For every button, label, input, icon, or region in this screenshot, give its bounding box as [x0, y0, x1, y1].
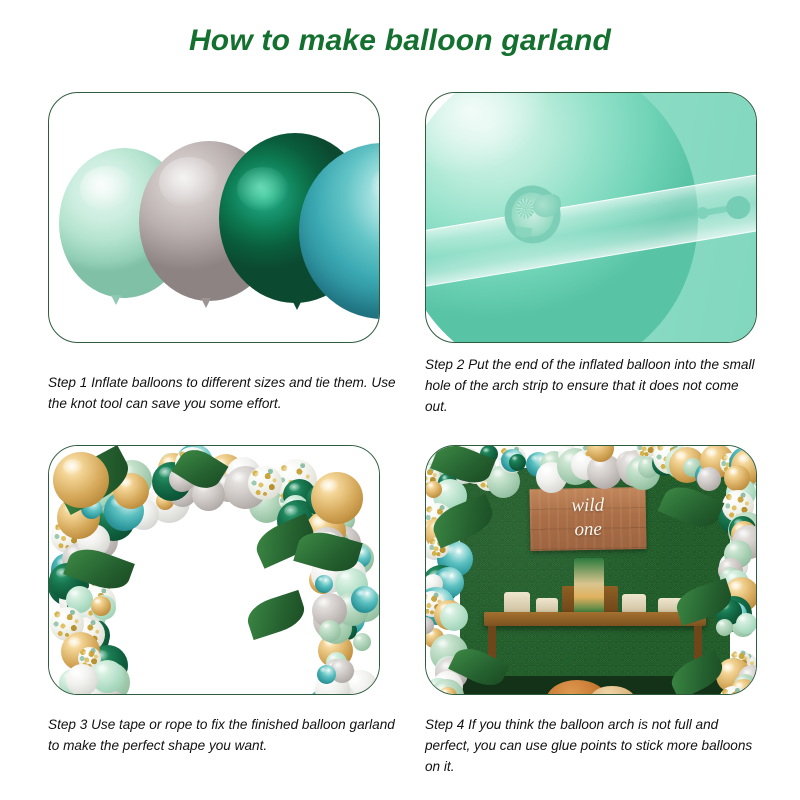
party-balloon	[716, 619, 733, 636]
party-balloon	[697, 467, 721, 491]
balloon-highlight	[159, 157, 221, 208]
garland-balloon	[91, 596, 111, 616]
balloon-knot	[201, 298, 211, 308]
garland-balloon	[66, 664, 98, 695]
garland-balloon	[248, 466, 282, 500]
step-2-caption: Step 2 Put the end of the inflated ballo…	[425, 354, 765, 417]
step-2-cell	[425, 92, 757, 343]
party-balloon	[736, 613, 757, 634]
step-3-image-panel	[48, 445, 380, 695]
balloon-arch-scene	[49, 446, 379, 694]
party-balloon-frame	[426, 446, 756, 694]
step-2-image-panel	[425, 92, 757, 343]
step-3-caption: Step 3 Use tape or rope to fix the finis…	[48, 714, 396, 756]
step-4-image-panel: wild one	[425, 445, 757, 695]
step-1-cell	[48, 92, 380, 343]
jungle-party-scene: wild one	[426, 446, 756, 694]
balloon-knot	[379, 315, 380, 325]
balloon-arch-strip-scene	[426, 93, 756, 342]
four-balloons-scene	[49, 93, 379, 342]
balloon-highlight	[370, 164, 380, 210]
balloon-highlight	[80, 166, 135, 211]
step-1-caption: Step 1 Inflate balloons to different siz…	[48, 372, 396, 414]
step-4-cell: wild one	[425, 445, 757, 695]
palm-leaf	[666, 650, 728, 695]
step-3-cell	[48, 445, 380, 695]
balloon-highlight	[237, 167, 289, 211]
balloon-highlight	[425, 92, 569, 193]
balloon-knot	[292, 300, 302, 310]
garland-balloon	[311, 472, 363, 524]
party-balloon	[440, 603, 468, 631]
balloon-knot	[111, 295, 121, 305]
hole-large-circle	[725, 194, 752, 221]
balloon-knot-through-hole	[500, 180, 570, 242]
page-title: How to make balloon garland	[0, 24, 800, 58]
palm-leaf	[243, 590, 309, 640]
step-4-caption: Step 4 If you think the balloon arch is …	[425, 714, 765, 777]
garland-balloon	[53, 452, 109, 508]
garland-balloon	[317, 665, 336, 684]
party-balloon	[509, 454, 526, 471]
garland-balloon	[353, 633, 371, 651]
garland-balloon	[315, 575, 333, 593]
poster-root: How to make balloon garland Step 1 Infla…	[0, 0, 800, 800]
party-balloon	[425, 481, 442, 498]
step-1-image-panel	[48, 92, 380, 343]
dumbbell-shaped-hole	[695, 194, 756, 225]
garland-balloon	[319, 620, 341, 642]
